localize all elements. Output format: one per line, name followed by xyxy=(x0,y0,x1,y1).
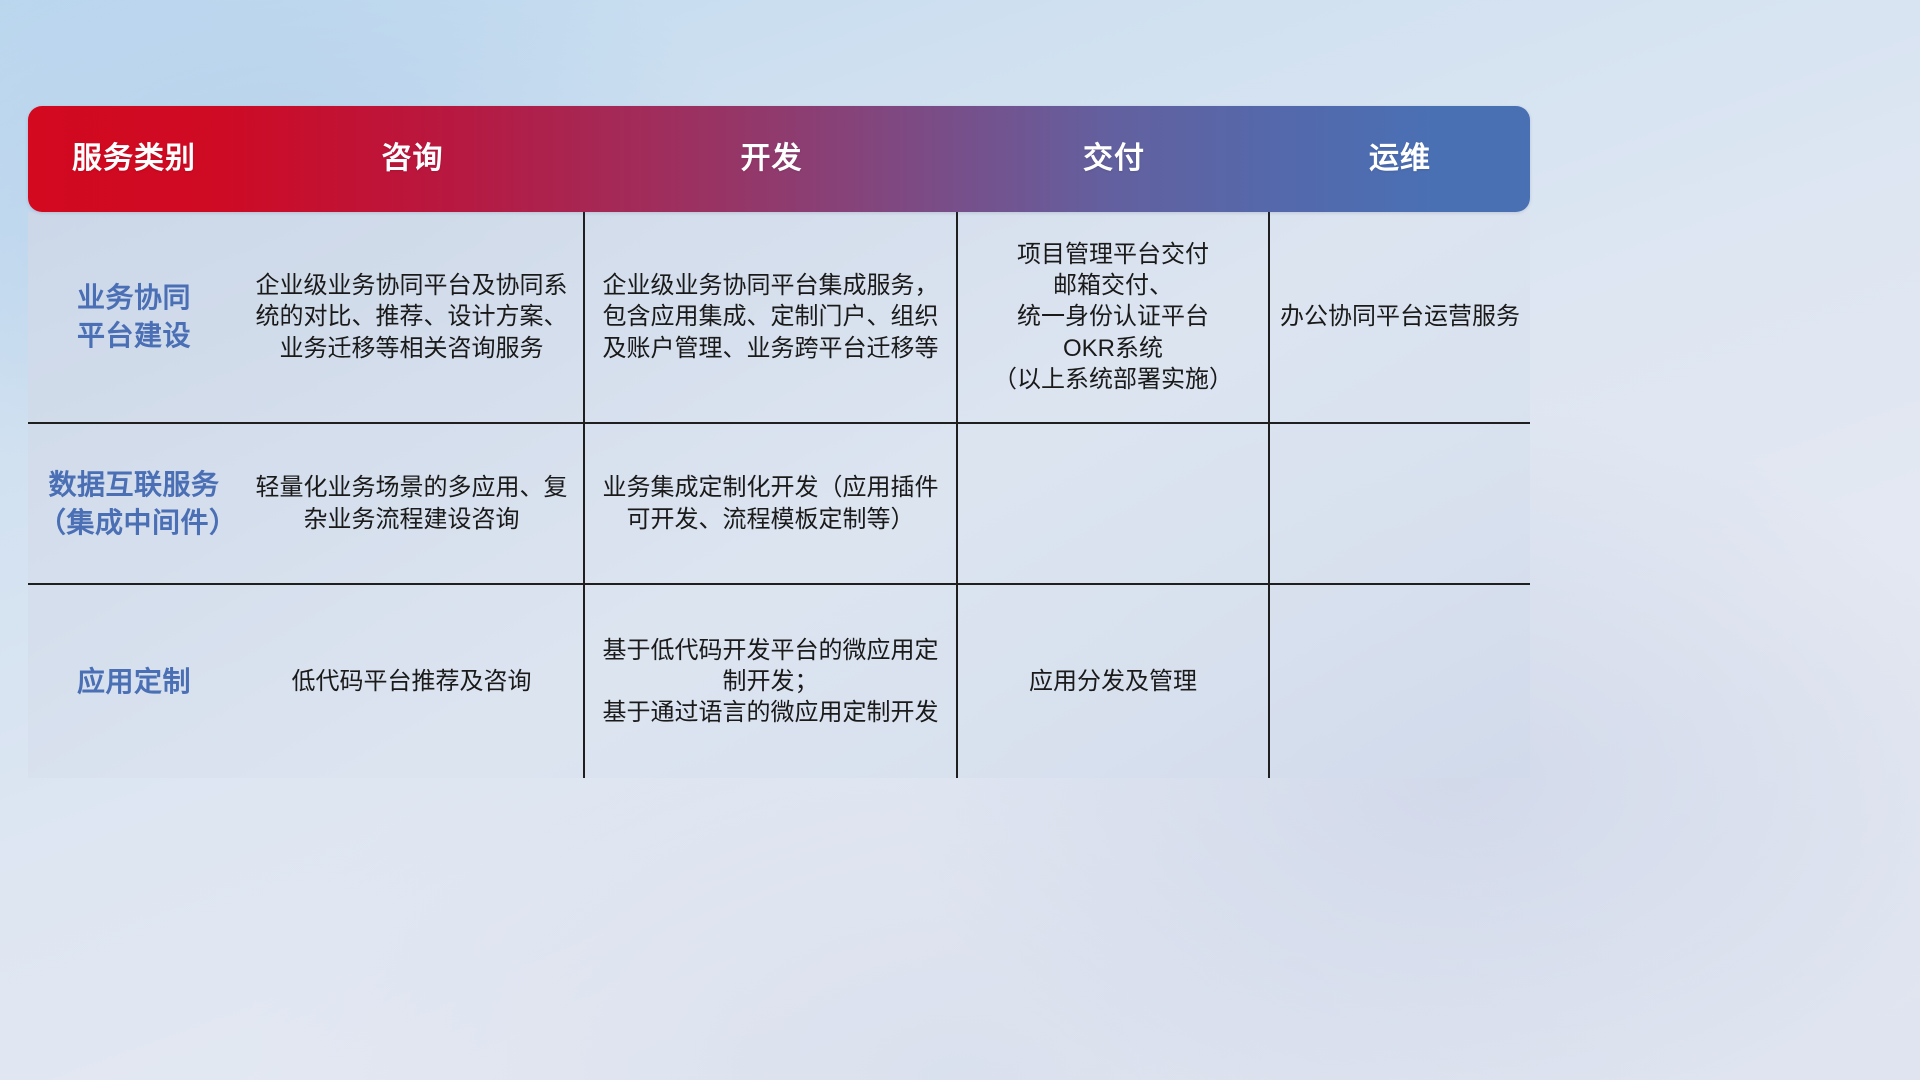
cell-r3-operations xyxy=(1270,585,1530,778)
cell-r3-development: 基于低代码开发平台的微应用定 制开发； 基于通过语言的微应用定制开发 xyxy=(585,585,958,778)
cell-r2-consulting: 轻量化业务场景的多应用、复 杂业务流程建设咨询 xyxy=(240,424,585,585)
table-header-row: 服务类别 咨询 开发 交付 运维 xyxy=(28,106,1530,212)
column-header-category: 服务类别 xyxy=(28,144,240,174)
cell-r1-operations: 办公协同平台运营服务 xyxy=(1270,212,1530,424)
cell-r3-delivery: 应用分发及管理 xyxy=(958,585,1270,778)
cell-r1-delivery: 项目管理平台交付 邮箱交付、 统一身份认证平台 OKR系统 （以上系统部署实施） xyxy=(958,212,1270,424)
row-label-data-interconnect: 数据互联服务 （集成中间件） xyxy=(28,424,240,585)
row-label-app-customization: 应用定制 xyxy=(28,585,240,778)
table-body: 业务协同 平台建设 企业级业务协同平台及协同系 统的对比、推荐、设计方案、 业务… xyxy=(28,212,1530,778)
column-header-consulting: 咨询 xyxy=(240,144,585,174)
cell-r1-consulting: 企业级业务协同平台及协同系 统的对比、推荐、设计方案、 业务迁移等相关咨询服务 xyxy=(240,212,585,424)
cell-r2-development: 业务集成定制化开发（应用插件 可开发、流程模板定制等） xyxy=(585,424,958,585)
cell-r1-development: 企业级业务协同平台集成服务， 包含应用集成、定制门户、组织 及账户管理、业务跨平… xyxy=(585,212,958,424)
cell-r2-operations xyxy=(1270,424,1530,585)
column-header-operations: 运维 xyxy=(1270,144,1530,174)
cell-r3-consulting: 低代码平台推荐及咨询 xyxy=(240,585,585,778)
column-header-delivery: 交付 xyxy=(958,144,1270,174)
column-header-development: 开发 xyxy=(585,144,958,174)
row-label-business-collaboration: 业务协同 平台建设 xyxy=(28,212,240,424)
service-matrix-table: 服务类别 咨询 开发 交付 运维 业务协同 平台建设 企业级业务协同平台及协同系… xyxy=(28,106,1530,778)
cell-r2-delivery xyxy=(958,424,1270,585)
